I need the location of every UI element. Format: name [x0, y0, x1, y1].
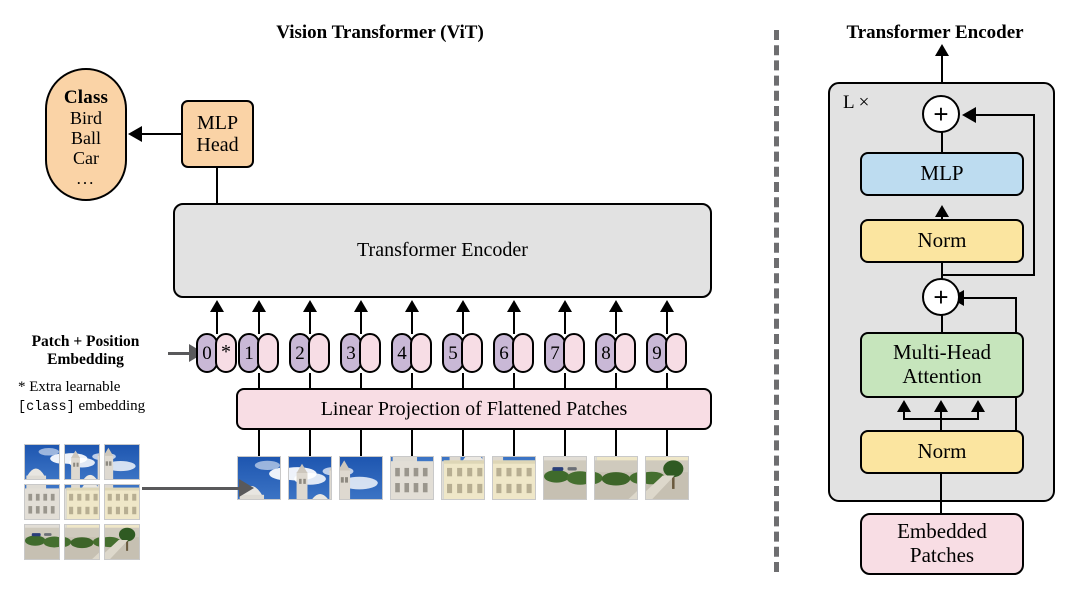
mlp-head-line1: MLP: [197, 112, 238, 134]
attn-residual-top: [962, 297, 1017, 299]
multi-head-attention-block: Multi-Head Attention: [860, 332, 1024, 398]
grid-to-strip-line: [142, 487, 240, 490]
embedding-label-arrow-line: [168, 352, 190, 355]
norm-bottom-label: Norm: [918, 440, 967, 464]
source-grid-patch-r2-c0: [24, 524, 60, 560]
left-panel-title: Vision Transformer (ViT): [100, 22, 660, 44]
strip-patch-2: [288, 456, 332, 500]
embedded-patches-line2: Patches: [910, 544, 974, 568]
qkv-arrowhead-left: [897, 400, 911, 412]
mlp-block-label: MLP: [920, 162, 963, 186]
token-5: 5: [442, 333, 483, 373]
token-up-line-4: [411, 310, 413, 334]
token-up-arrowhead-9: [660, 300, 674, 312]
class-token-mono: [class]: [18, 400, 75, 415]
norm-top-to-mlp-arrowhead: [935, 205, 949, 217]
class-heading: Class: [64, 87, 108, 108]
source-grid-patch-r2-c2: [104, 524, 140, 560]
position-capsule-2: [308, 333, 330, 373]
strip-patch-6: [492, 456, 536, 500]
repeat-count-label: L ×: [843, 92, 869, 114]
token-up-line-6: [513, 310, 515, 334]
source-grid-patch-r1-c0: [24, 484, 60, 520]
token-up-line-0: [216, 310, 218, 334]
panel-divider: [774, 30, 779, 572]
token-up-line-1: [258, 310, 260, 334]
token-3: 3: [340, 333, 381, 373]
mlp-to-class-line: [141, 133, 181, 135]
token-down-line-9: [666, 373, 668, 388]
token-up-arrowhead-6: [507, 300, 521, 312]
mlp-head-box: MLP Head: [181, 100, 254, 168]
token-up-line-5: [462, 310, 464, 334]
token-up-arrowhead-0: [210, 300, 224, 312]
class-token-star: *: [215, 333, 237, 373]
source-grid-patch-r0-c0: [24, 444, 60, 480]
source-grid-patch-r2-c1: [64, 524, 100, 560]
projection-down-line-8: [615, 430, 617, 456]
strip-patch-7: [543, 456, 587, 500]
token-down-line-5: [462, 373, 464, 388]
strip-patch-3: [339, 456, 383, 500]
attn-to-add-line: [941, 314, 943, 334]
token-up-arrowhead-7: [558, 300, 572, 312]
mlp-residual-vertical: [1033, 114, 1035, 276]
token-down-line-3: [360, 373, 362, 388]
token-up-line-8: [615, 310, 617, 334]
strip-patch-8: [594, 456, 638, 500]
position-capsule-3: [359, 333, 381, 373]
encoder-to-mlp-line: [216, 168, 218, 203]
position-capsule-5: [461, 333, 483, 373]
class-item-bird: Bird: [70, 108, 102, 128]
token-up-arrowhead-5: [456, 300, 470, 312]
token-up-arrowhead-1: [252, 300, 266, 312]
token-1: 1: [238, 333, 279, 373]
grid-to-strip-arrowhead: [239, 479, 254, 497]
token-7: 7: [544, 333, 585, 373]
embedded-patches-line1: Embedded: [897, 520, 987, 544]
token-down-line-7: [564, 373, 566, 388]
class-output-box: Class Bird Ball Car ...: [45, 68, 127, 201]
source-grid-patch-r0-c2: [104, 444, 140, 480]
encoder-output-arrowhead: [935, 44, 949, 56]
token-8: 8: [595, 333, 636, 373]
source-grid-patch-r1-c2: [104, 484, 140, 520]
token-down-line-4: [411, 373, 413, 388]
footnote-line1: * Extra learnable: [18, 378, 193, 397]
embedding-label-line1: Patch + Position: [8, 333, 163, 351]
position-capsule-8: [614, 333, 636, 373]
mlp-to-add-line: [941, 131, 943, 153]
linear-projection-label: Linear Projection of Flattened Patches: [321, 398, 628, 420]
norm-block-bottom: Norm: [860, 430, 1024, 474]
footnote-line2: [class] embedding: [18, 397, 193, 417]
norm-block-top: Norm: [860, 219, 1024, 263]
extra-learnable-footnote: * Extra learnable [class] embedding: [18, 378, 193, 417]
token-up-line-9: [666, 310, 668, 334]
token-2: 2: [289, 333, 330, 373]
position-capsule-7: [563, 333, 585, 373]
linear-projection-box: Linear Projection of Flattened Patches: [236, 388, 712, 430]
strip-patch-4: [390, 456, 434, 500]
mlp-head-line2: Head: [196, 134, 238, 156]
token-9: 9: [646, 333, 687, 373]
position-capsule-1: [257, 333, 279, 373]
qkv-arrowhead-right: [971, 400, 985, 412]
projection-down-line-3: [360, 430, 362, 456]
token-up-line-2: [309, 310, 311, 334]
embedding-label-line2: Embedding: [8, 351, 163, 369]
token-6: 6: [493, 333, 534, 373]
token-up-line-3: [360, 310, 362, 334]
token-0: 0*: [196, 333, 237, 373]
strip-patch-5: [441, 456, 485, 500]
token-down-line-8: [615, 373, 617, 388]
norm-top-label: Norm: [918, 229, 967, 253]
token-up-arrowhead-4: [405, 300, 419, 312]
right-panel-title: Transformer Encoder: [800, 22, 1070, 44]
token-down-line-2: [309, 373, 311, 388]
footnote-line2-rest: embedding: [75, 398, 145, 414]
attention-line2: Attention: [902, 365, 981, 389]
projection-down-line-5: [462, 430, 464, 456]
class-item-car: Car: [73, 148, 99, 168]
class-item-ball: Ball: [71, 128, 101, 148]
token-up-arrowhead-8: [609, 300, 623, 312]
strip-patch-9: [645, 456, 689, 500]
token-down-line-6: [513, 373, 515, 388]
token-down-line-1: [258, 373, 260, 388]
token-up-arrowhead-3: [354, 300, 368, 312]
mlp-residual-arrowhead: [962, 107, 976, 123]
mlp-block: MLP: [860, 152, 1024, 196]
embedded-to-norm-line: [940, 473, 942, 517]
position-capsule-4: [410, 333, 432, 373]
transformer-encoder-label: Transformer Encoder: [357, 239, 528, 261]
projection-down-line-6: [513, 430, 515, 456]
projection-down-line-4: [411, 430, 413, 456]
token-up-line-7: [564, 310, 566, 334]
attention-line1: Multi-Head: [893, 341, 991, 365]
residual-add-top: +: [922, 95, 960, 133]
token-4: 4: [391, 333, 432, 373]
projection-down-line-7: [564, 430, 566, 456]
token-up-arrowhead-2: [303, 300, 317, 312]
source-grid-patch-r0-c1: [64, 444, 100, 480]
qkv-arrowhead-mid: [934, 400, 948, 412]
mlp-to-class-arrowhead: [128, 126, 142, 142]
residual-add-bottom: +: [922, 278, 960, 316]
position-capsule-6: [512, 333, 534, 373]
projection-down-line-2: [309, 430, 311, 456]
class-ellipsis: ...: [77, 168, 96, 184]
embedded-patches-block: Embedded Patches: [860, 513, 1024, 575]
source-grid-patch-r1-c1: [64, 484, 100, 520]
transformer-encoder-box: Transformer Encoder: [173, 203, 712, 298]
patch-position-embedding-label: Patch + Position Embedding: [8, 333, 163, 369]
position-capsule-9: [665, 333, 687, 373]
mlp-residual-top: [975, 114, 1035, 116]
projection-down-line-9: [666, 430, 668, 456]
mlp-residual-bottom: [941, 274, 1035, 276]
projection-down-line-1: [258, 430, 260, 456]
